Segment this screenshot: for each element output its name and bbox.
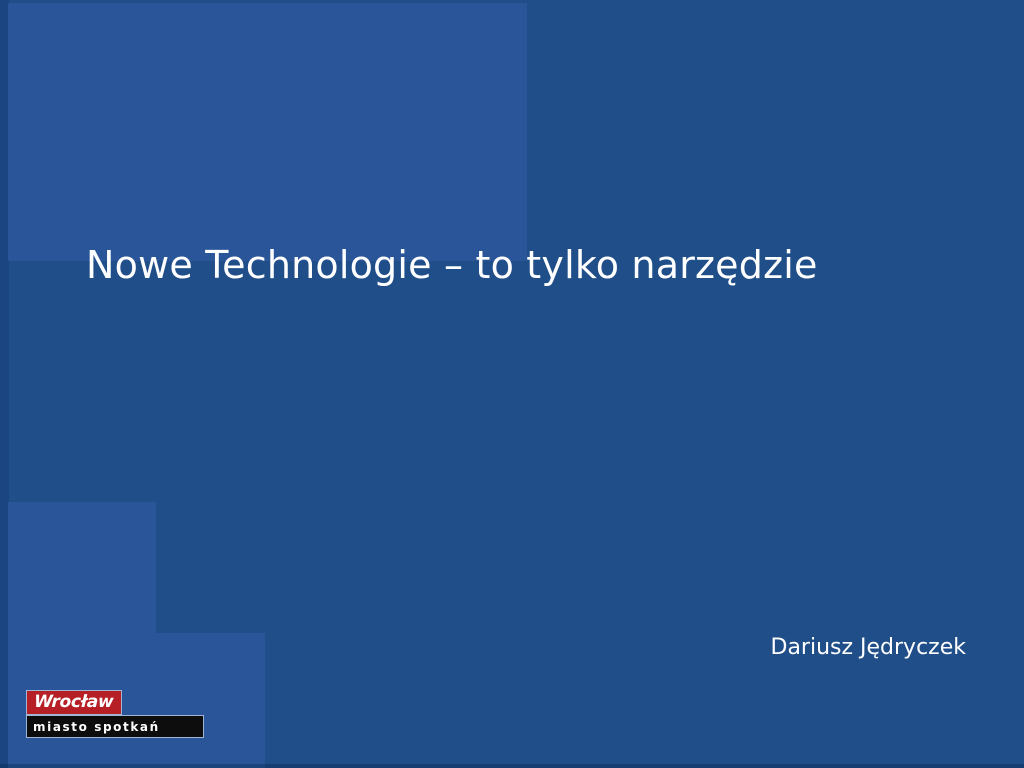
slide-bottom-shade (0, 764, 1024, 768)
wroclaw-logo: Wrocław miasto spotkań (26, 690, 206, 738)
presentation-slide: Nowe Technologie – to tylko narzędzie Da… (0, 0, 1024, 768)
decorative-block-top-left (8, 3, 527, 261)
wroclaw-logo-tagline-box: miasto spotkań (26, 715, 204, 738)
wroclaw-logo-name-box: Wrocław (26, 690, 122, 715)
slide-title: Nowe Technologie – to tylko narzędzie (86, 238, 946, 292)
wroclaw-logo-tagline-text: miasto spotkań (33, 721, 160, 733)
wroclaw-logo-name-text: Wrocław (34, 694, 114, 711)
slide-author: Dariusz Jędryczek (771, 632, 967, 664)
